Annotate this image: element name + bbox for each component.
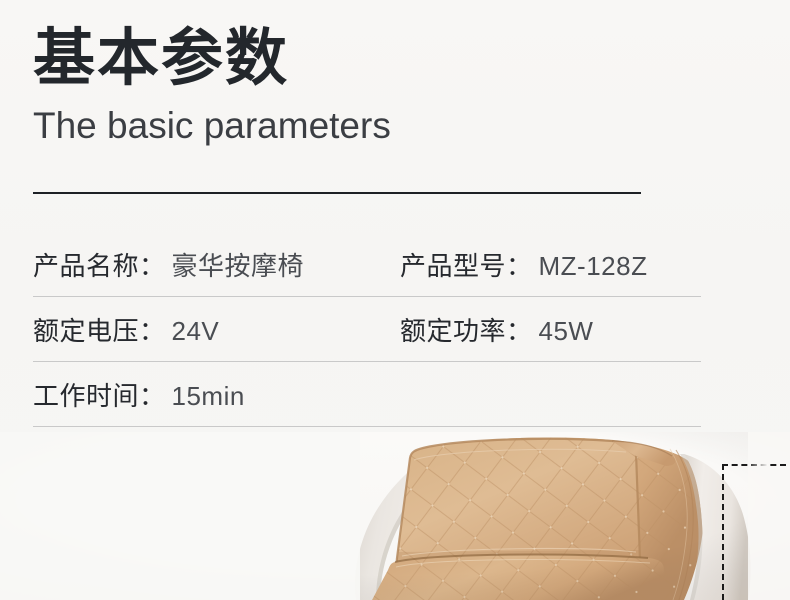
spec-value: MZ-128Z — [539, 251, 648, 282]
spec-value: 豪华按摩椅 — [172, 246, 305, 283]
spec-table: 产品名称： 豪华按摩椅 产品型号： MZ-128Z 额定电压： 24V 额定功率… — [33, 232, 701, 427]
spec-cell-model-number: 产品型号： MZ-128Z — [400, 246, 701, 283]
page-title: 基本参数 — [33, 22, 733, 96]
table-row: 产品名称： 豪华按摩椅 产品型号： MZ-128Z — [33, 232, 701, 297]
spec-label: 额定电压： — [33, 311, 166, 348]
page-subtitle: The basic parameters — [33, 104, 733, 148]
spec-label: 工作时间： — [33, 376, 166, 413]
product-photo — [0, 432, 790, 600]
spec-value: 24V — [172, 316, 220, 347]
spec-label: 产品名称： — [33, 246, 166, 283]
table-row: 工作时间： 15min — [33, 362, 701, 427]
spec-label: 额定功率： — [400, 311, 533, 348]
spec-label: 产品型号： — [400, 246, 533, 283]
massage-chair-illustration — [0, 432, 790, 600]
spec-cell-rated-voltage: 额定电压： 24V — [33, 311, 400, 348]
spec-value: 45W — [539, 316, 594, 347]
title-underline-rule — [33, 192, 641, 194]
spec-cell-rated-power: 额定功率： 45W — [400, 311, 701, 348]
spec-value: 15min — [172, 381, 245, 412]
spec-cell-working-time: 工作时间： 15min — [33, 376, 400, 413]
table-row: 额定电压： 24V 额定功率： 45W — [33, 297, 701, 362]
product-spec-panel: 基本参数 The basic parameters 产品名称： 豪华按摩椅 产品… — [0, 0, 790, 600]
spec-cell-product-name: 产品名称： 豪华按摩椅 — [33, 246, 400, 283]
header-block: 基本参数 The basic parameters — [33, 22, 733, 148]
